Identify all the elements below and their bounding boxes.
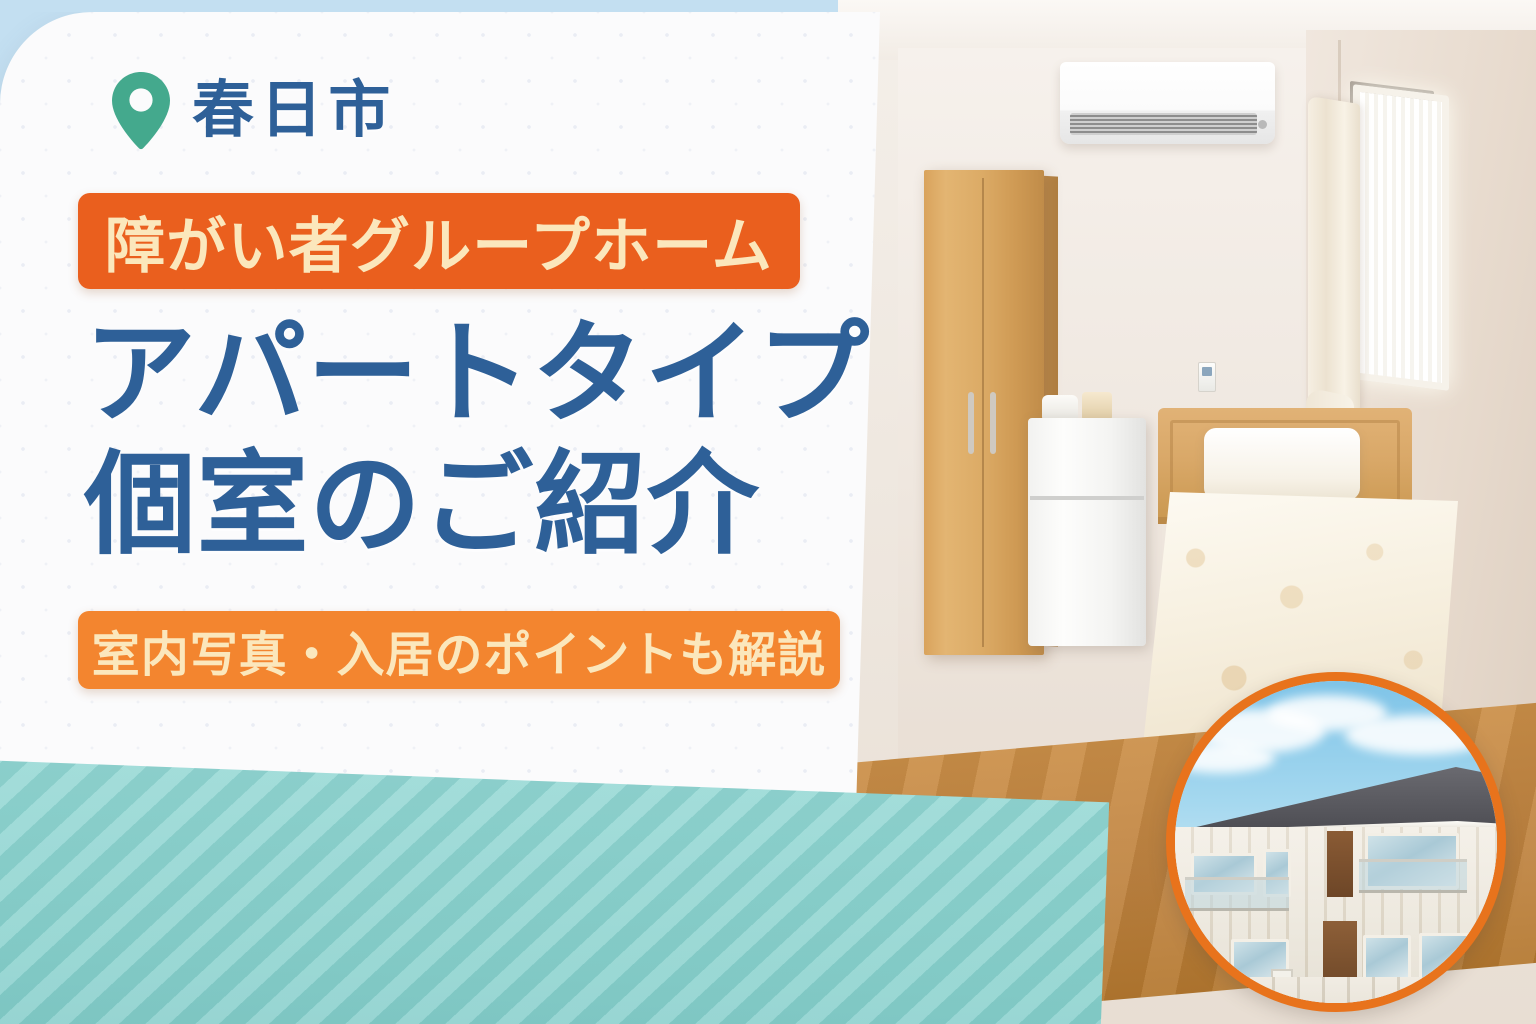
window: [1419, 933, 1471, 981]
cloud: [1166, 743, 1275, 773]
refrigerator-door-gap: [1030, 496, 1144, 500]
wardrobe-handle-left: [968, 392, 974, 454]
wooden-wardrobe: [924, 170, 1044, 655]
air-conditioner-icon: [1060, 62, 1275, 144]
container-on-fridge: [1082, 392, 1112, 421]
air-conditioner-vent: [1070, 113, 1257, 135]
headline-line-1: アパートタイプ: [84, 308, 870, 439]
refrigerator: [1028, 418, 1146, 646]
air-conditioner-led: [1258, 120, 1267, 129]
page-title: アパートタイプ 個室のご紹介: [84, 308, 870, 570]
map-pin-icon: [112, 72, 170, 150]
window: [1353, 84, 1449, 391]
window: [1363, 935, 1411, 981]
teal-striped-band: [0, 760, 1109, 1024]
location-row: 春日市: [112, 72, 397, 150]
badge-service-type: 障がい者グループホーム: [78, 193, 800, 289]
wardrobe-handle-right: [990, 392, 996, 454]
badge-subtitle: 室内写真・入居のポイントも解説: [78, 611, 840, 689]
wardrobe-door-seam: [982, 178, 984, 647]
curtain: [1308, 96, 1360, 434]
location-city-label: 春日市: [192, 80, 397, 142]
pillow: [1204, 428, 1360, 500]
balcony-railing: [1359, 859, 1467, 893]
banner-canvas: 春日市 障がい者グループホーム アパートタイプ 個室のご紹介 室内写真・入居のポ…: [0, 0, 1536, 1024]
cloud: [1345, 715, 1495, 755]
wall-switch-icon: [1198, 362, 1216, 392]
apartment-exterior-photo: [1166, 672, 1506, 1012]
sheer-curtain: [1360, 92, 1442, 383]
balcony-railing: [1185, 877, 1289, 911]
headline-line-2: 個室のご紹介: [84, 439, 870, 570]
upper-door-panel: [1327, 831, 1353, 897]
